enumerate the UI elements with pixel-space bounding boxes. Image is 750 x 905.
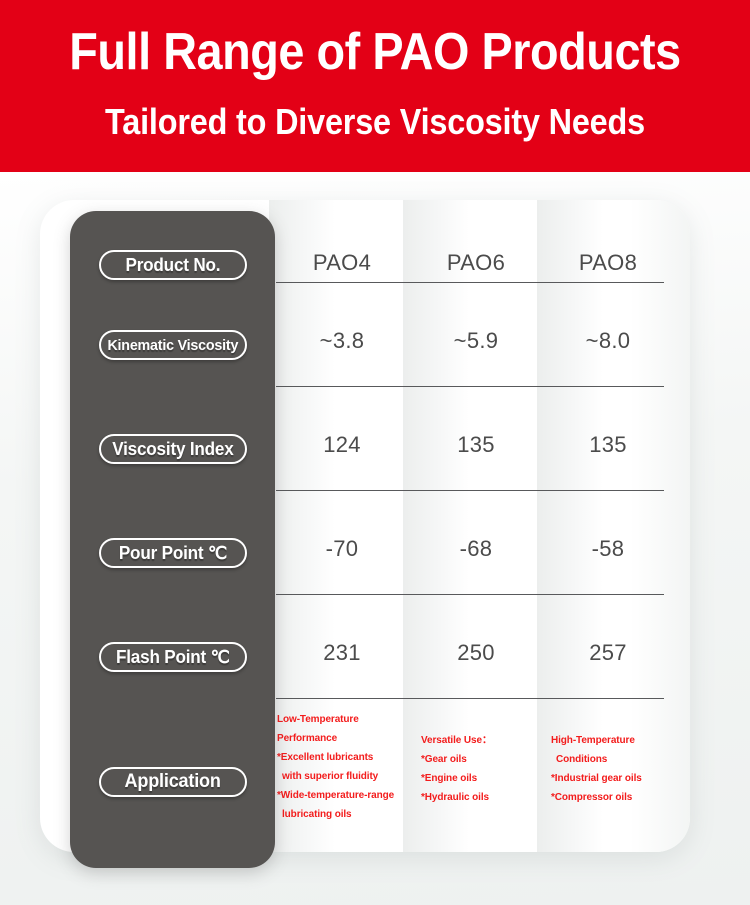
row-divider — [276, 282, 664, 283]
column-header-pao6: PAO6 — [409, 250, 543, 276]
column-header-pao4: PAO4 — [275, 250, 409, 276]
application-line: *Compressor oils — [551, 788, 681, 807]
application-line: High-Temperature — [551, 731, 681, 750]
row-label-text: Kinematic Viscosity — [108, 337, 239, 354]
cell-viscosity-index-pao8: 135 — [541, 432, 675, 458]
row-divider — [276, 594, 664, 595]
row-label-viscosity-index: Viscosity Index — [99, 434, 247, 464]
row-label-product-no: Product No. — [99, 250, 247, 280]
row-divider — [276, 490, 664, 491]
cell-kinematic-viscosity-pao8: ~8.0 — [541, 328, 675, 354]
application-line: *Industrial gear oils — [551, 769, 681, 788]
row-label-panel: Product No. Kinematic Viscosity Viscosit… — [70, 211, 275, 868]
application-line: Conditions — [551, 750, 681, 769]
row-label-pour-point: Pour Point ℃ — [99, 538, 247, 568]
row-divider — [276, 698, 664, 699]
row-label-flash-point: Flash Point ℃ — [99, 642, 247, 672]
application-line: with superior fluidity — [277, 767, 407, 786]
row-label-text: Viscosity Index — [112, 439, 233, 460]
page-title: Full Range of PAO Products — [38, 20, 713, 84]
cell-kinematic-viscosity-pao4: ~3.8 — [275, 328, 409, 354]
cell-application-pao4: Low-Temperature Performance *Excellent l… — [277, 710, 407, 824]
cell-kinematic-viscosity-pao6: ~5.9 — [409, 328, 543, 354]
cell-pour-point-pao6: -68 — [409, 536, 543, 562]
column-header-pao8: PAO8 — [541, 250, 675, 276]
spec-value-grid: PAO4 PAO6 PAO8 ~3.8 ~5.9 ~8.0 124 135 13… — [275, 200, 675, 868]
row-divider — [276, 386, 664, 387]
header-banner: Full Range of PAO Products Tailored to D… — [0, 0, 750, 172]
row-label-kinematic-viscosity: Kinematic Viscosity — [99, 330, 247, 360]
cell-application-pao8: High-Temperature Conditions *Industrial … — [551, 731, 681, 807]
application-line: *Wide-temperature-range — [277, 786, 407, 805]
row-label-text: Application — [125, 771, 221, 793]
application-line: *Engine oils — [421, 769, 551, 788]
cell-pour-point-pao8: -58 — [541, 536, 675, 562]
row-label-text: Flash Point ℃ — [116, 647, 230, 668]
cell-flash-point-pao8: 257 — [541, 640, 675, 666]
cell-flash-point-pao6: 250 — [409, 640, 543, 666]
application-line: lubricating oils — [277, 805, 407, 824]
application-line: Performance — [277, 729, 407, 748]
application-line: *Gear oils — [421, 750, 551, 769]
application-line: *Excellent lubricants — [277, 748, 407, 767]
row-label-application: Application — [99, 767, 247, 797]
application-line: Versatile Use： — [421, 731, 551, 750]
row-label-text: Product No. — [126, 255, 221, 276]
cell-pour-point-pao4: -70 — [275, 536, 409, 562]
cell-flash-point-pao4: 231 — [275, 640, 409, 666]
page-subtitle: Tailored to Diverse Viscosity Needs — [38, 99, 713, 145]
cell-viscosity-index-pao4: 124 — [275, 432, 409, 458]
cell-viscosity-index-pao6: 135 — [409, 432, 543, 458]
application-line: Low-Temperature — [277, 710, 407, 729]
cell-application-pao6: Versatile Use： *Gear oils *Engine oils *… — [421, 731, 551, 807]
application-line: *Hydraulic oils — [421, 788, 551, 807]
row-label-text: Pour Point ℃ — [119, 543, 227, 564]
